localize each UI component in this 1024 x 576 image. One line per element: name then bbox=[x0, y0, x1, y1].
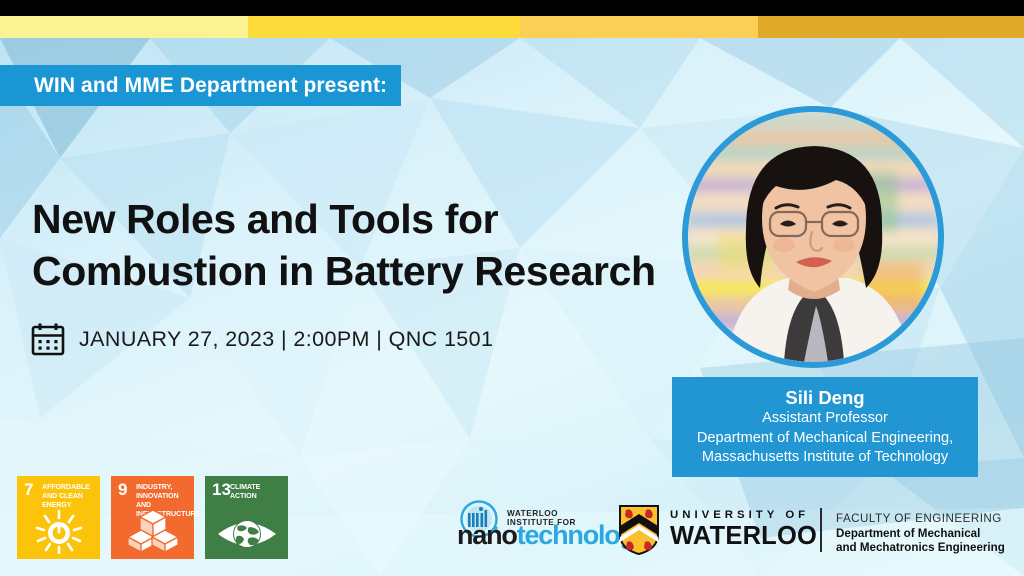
sdg-goal-13-label: CLIMATE ACTION bbox=[230, 483, 284, 501]
title-line-2: Combustion in Battery Research bbox=[32, 245, 672, 297]
band-yellow bbox=[248, 16, 520, 38]
top-black-bar bbox=[0, 0, 1024, 16]
event-details: JANUARY 27, 2023 | 2:00PM | QNC 1501 bbox=[31, 322, 493, 356]
sdg-goal-13: 13 CLIMATE ACTION bbox=[205, 476, 288, 559]
faculty-lockup: FACULTY OF ENGINEERING Department of Mec… bbox=[836, 512, 1005, 556]
win-logo: WATERLOO INSTITUTE FOR nanotechnology bbox=[455, 500, 607, 558]
speaker-info-card: Sili Deng Assistant Professor Department… bbox=[672, 377, 978, 477]
sun-power-icon bbox=[17, 508, 100, 554]
presenter-banner-text: WIN and MME Department present: bbox=[34, 74, 387, 98]
sdg-goal-7-number: 7 bbox=[24, 481, 33, 498]
band-amber bbox=[758, 16, 1024, 38]
sdg-goal-9: 9 INDUSTRY, INNOVATION AND INFRASTRUCTUR… bbox=[111, 476, 194, 559]
speaker-portrait bbox=[682, 106, 944, 368]
logo-divider bbox=[820, 508, 822, 552]
eye-globe-icon bbox=[205, 514, 288, 554]
event-datetime-location: JANUARY 27, 2023 | 2:00PM | QNC 1501 bbox=[79, 327, 493, 352]
sdg-goal-list: 7 AFFORDABLE AND CLEAN ENERGY bbox=[17, 476, 288, 559]
faculty-line-3: and Mechatronics Engineering bbox=[836, 541, 1005, 556]
waterloo-wordmark: UNIVERSITY OF WATERLOO bbox=[670, 510, 817, 550]
portrait-image bbox=[688, 112, 938, 362]
cubes-icon bbox=[111, 508, 194, 554]
waterloo-shield-icon bbox=[618, 504, 660, 556]
title-line-1: New Roles and Tools for bbox=[32, 193, 672, 245]
avatar bbox=[688, 112, 938, 362]
speaker-role: Assistant Professor bbox=[762, 409, 888, 429]
band-pale-yellow bbox=[0, 16, 248, 38]
sdg-goal-7: 7 AFFORDABLE AND CLEAN ENERGY bbox=[17, 476, 100, 559]
faculty-line-2: Department of Mechanical bbox=[836, 527, 1005, 542]
event-poster: WIN and MME Department present: New Role… bbox=[0, 0, 1024, 576]
presenter-banner: WIN and MME Department present: bbox=[0, 65, 401, 106]
top-color-band bbox=[0, 16, 1024, 38]
university-of-waterloo-logo: UNIVERSITY OF WATERLOO bbox=[618, 503, 817, 557]
speaker-affiliation-line-2: Massachusetts Institute of Technology bbox=[702, 448, 948, 468]
sdg-goal-9-number: 9 bbox=[118, 481, 127, 498]
sdg-goal-13-number: 13 bbox=[212, 481, 231, 498]
band-golden bbox=[520, 16, 758, 38]
sdg-goal-7-label: AFFORDABLE AND CLEAN ENERGY bbox=[42, 483, 96, 510]
calendar-icon bbox=[31, 322, 65, 356]
win-wordmark-nano: nano bbox=[457, 520, 517, 550]
speaker-affiliation-line-1: Department of Mechanical Engineering, bbox=[697, 429, 953, 449]
page-title: New Roles and Tools for Combustion in Ba… bbox=[32, 193, 672, 298]
waterloo-line-2: WATERLOO bbox=[670, 524, 817, 550]
faculty-line-1: FACULTY OF ENGINEERING bbox=[836, 512, 1005, 527]
waterloo-line-1: UNIVERSITY OF bbox=[670, 510, 817, 521]
speaker-name: Sili Deng bbox=[785, 386, 864, 409]
